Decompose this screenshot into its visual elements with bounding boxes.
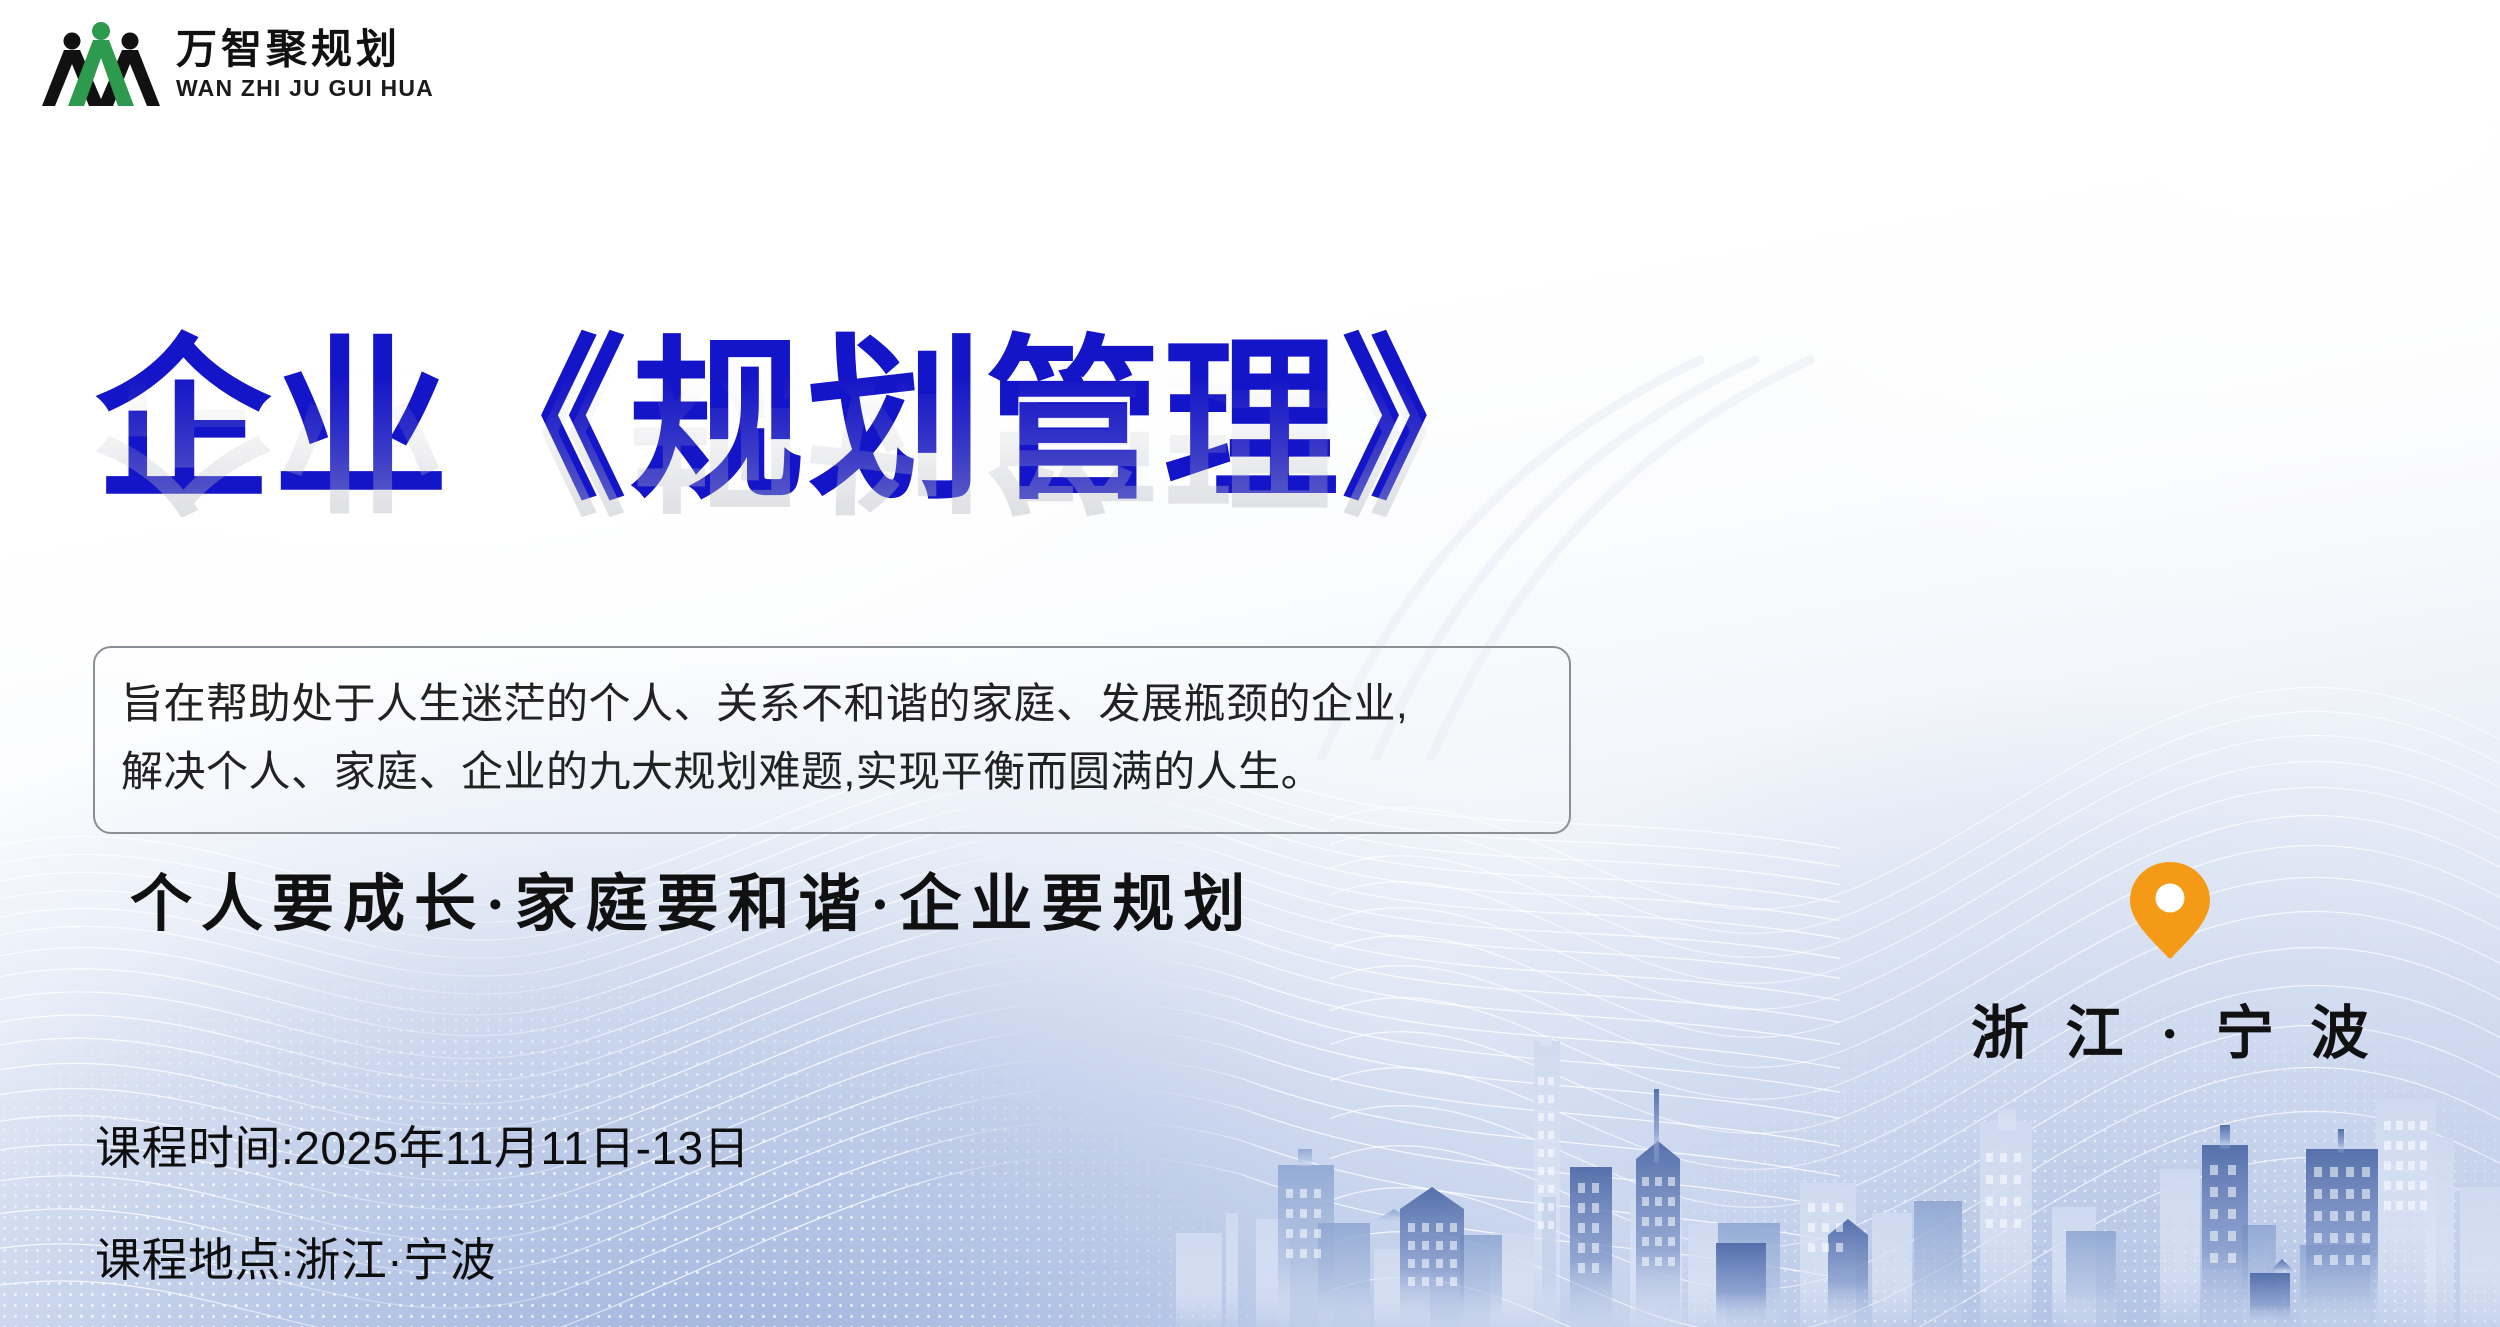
brand-logo[interactable]: 万智聚规划 WAN ZHI JU GUI HUA [42, 18, 434, 110]
brand-name-en: WAN ZHI JU GUI HUA [176, 77, 434, 100]
course-place-row: 课程地点:浙江·宁波 [95, 1224, 750, 1290]
page-title-reflection: 企业《规划管理》 [95, 332, 1519, 517]
brand-wordmark: 万智聚规划 WAN ZHI JU GUI HUA [176, 29, 434, 100]
course-info-block: 课程时间:2025年11月11日-13日 课程地点:浙江·宁波 [95, 1112, 750, 1290]
description-line-1: 旨在帮助处于人生迷茫的个人、关系不和谐的家庭、发展瓶颈的企业, [121, 670, 1543, 738]
brand-name-cn: 万智聚规划 [176, 29, 434, 70]
location-label: 浙 江 · 宁 波 [1960, 986, 2379, 1070]
slogan-text: 个人要成长·家庭要和谐·企业要规划 [130, 853, 1254, 943]
course-time-row: 课程时间:2025年11月11日-13日 [95, 1112, 750, 1178]
poster-canvas: 万智聚规划 WAN ZHI JU GUI HUA 企业《规划管理》 企业《规划管… [0, 0, 2500, 1327]
location-block: 浙 江 · 宁 波 [1960, 860, 2379, 1070]
map-pin-icon [2124, 860, 2216, 960]
description-box: 旨在帮助处于人生迷茫的个人、关系不和谐的家庭、发展瓶颈的企业, 解决个人、家庭、… [93, 646, 1571, 834]
description-line-2: 解决个人、家庭、企业的九大规划难题,实现平衡而圆满的人生。 [121, 738, 1543, 806]
three-people-m-logo-icon [42, 18, 160, 110]
